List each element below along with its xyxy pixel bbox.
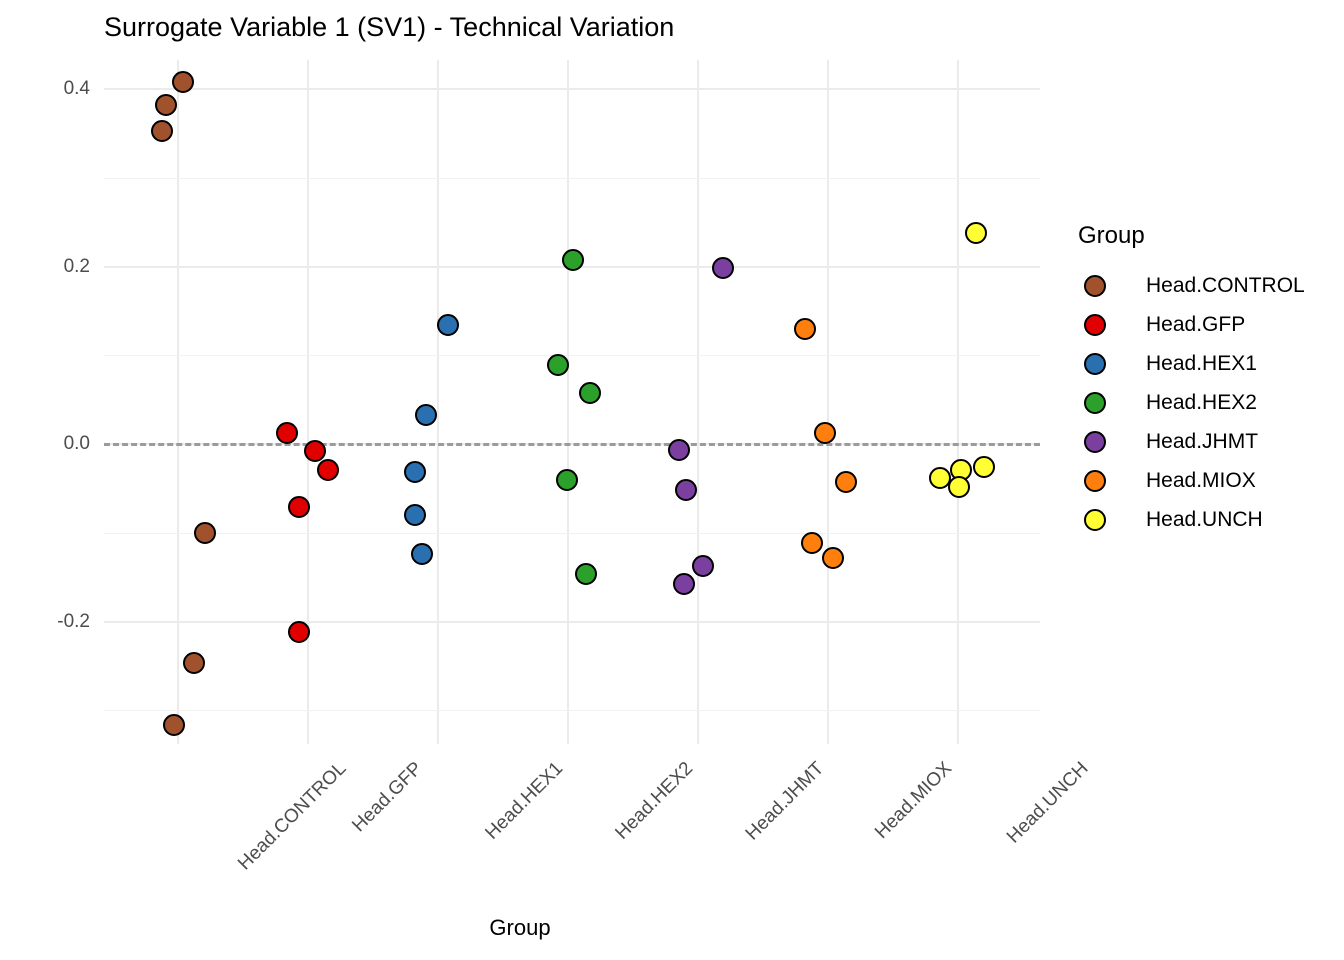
legend-item-label: Head.MIOX xyxy=(1146,469,1256,493)
x-tick-label: Head.JHMT xyxy=(742,758,829,845)
legend-item-label: Head.JHMT xyxy=(1146,430,1258,454)
data-point xyxy=(194,522,216,544)
data-point xyxy=(183,652,205,674)
legend-item[interactable]: Head.UNCH xyxy=(1078,500,1305,539)
data-point xyxy=(317,459,339,481)
data-point xyxy=(801,532,823,554)
legend-color-swatch xyxy=(1084,431,1106,453)
data-point xyxy=(288,621,310,643)
data-point xyxy=(562,249,584,271)
data-point xyxy=(155,94,177,116)
y-axis-label: SV Value xyxy=(0,300,4,390)
legend-item-label: Head.GFP xyxy=(1146,313,1245,337)
data-point xyxy=(172,71,194,93)
data-point xyxy=(163,714,185,736)
chart-root: Surrogate Variable 1 (SV1) - Technical V… xyxy=(0,0,1344,960)
legend: Group Head.CONTROLHead.GFPHead.HEX1Head.… xyxy=(1078,222,1305,539)
data-point xyxy=(835,471,857,493)
y-gridline-major xyxy=(104,621,1040,623)
data-point xyxy=(575,563,597,585)
data-point xyxy=(668,439,690,461)
y-gridline-minor xyxy=(104,355,1040,356)
x-gridline xyxy=(827,60,829,744)
x-gridline xyxy=(567,60,569,744)
plot-panel xyxy=(104,60,1040,744)
data-point xyxy=(794,318,816,340)
legend-item[interactable]: Head.CONTROL xyxy=(1078,266,1305,305)
data-point xyxy=(404,504,426,526)
zero-reference-line xyxy=(104,443,1040,446)
legend-color-swatch xyxy=(1084,470,1106,492)
x-tick-label: Head.UNCH xyxy=(1003,758,1093,848)
data-point xyxy=(547,354,569,376)
data-point xyxy=(404,461,426,483)
legend-item-label: Head.CONTROL xyxy=(1146,274,1305,298)
legend-item[interactable]: Head.JHMT xyxy=(1078,422,1305,461)
legend-color-swatch xyxy=(1084,392,1106,414)
y-tick-label: 0.4 xyxy=(10,78,90,100)
chart-title: Surrogate Variable 1 (SV1) - Technical V… xyxy=(104,12,674,43)
legend-item[interactable]: Head.GFP xyxy=(1078,305,1305,344)
data-point xyxy=(276,422,298,444)
x-tick-label: Head.CONTROL xyxy=(234,758,351,875)
x-tick-label: Head.MIOX xyxy=(871,758,957,844)
x-gridline xyxy=(307,60,309,744)
data-point xyxy=(712,257,734,279)
legend-color-swatch xyxy=(1084,353,1106,375)
data-point xyxy=(415,404,437,426)
y-gridline-minor xyxy=(104,710,1040,711)
data-point xyxy=(579,382,601,404)
legend-item[interactable]: Head.HEX2 xyxy=(1078,383,1305,422)
legend-item-label: Head.HEX1 xyxy=(1146,352,1257,376)
legend-color-swatch xyxy=(1084,509,1106,531)
legend-items: Head.CONTROLHead.GFPHead.HEX1Head.HEX2He… xyxy=(1078,266,1305,539)
legend-color-swatch xyxy=(1084,314,1106,336)
x-gridline xyxy=(177,60,179,744)
y-tick-label: 0.2 xyxy=(10,256,90,278)
y-tick-label: 0.0 xyxy=(10,433,90,455)
data-point xyxy=(692,555,714,577)
x-gridline xyxy=(697,60,699,744)
data-point xyxy=(948,476,970,498)
legend-color-swatch xyxy=(1084,275,1106,297)
data-point xyxy=(675,479,697,501)
y-gridline-minor xyxy=(104,533,1040,534)
x-tick-label: Head.GFP xyxy=(348,758,427,837)
x-tick-label: Head.HEX2 xyxy=(611,758,698,845)
data-point xyxy=(151,120,173,142)
data-point xyxy=(973,456,995,478)
data-point xyxy=(556,469,578,491)
data-point xyxy=(965,222,987,244)
data-point xyxy=(822,547,844,569)
legend-title: Group xyxy=(1078,222,1305,250)
x-gridline xyxy=(437,60,439,744)
data-point xyxy=(673,573,695,595)
y-gridline-minor xyxy=(104,178,1040,179)
y-tick-label: -0.2 xyxy=(10,611,90,633)
data-point xyxy=(411,543,433,565)
x-axis-label: Group xyxy=(0,915,1040,941)
x-tick-label: Head.HEX1 xyxy=(481,758,568,845)
y-gridline-major xyxy=(104,88,1040,90)
data-point xyxy=(437,314,459,336)
legend-item-label: Head.UNCH xyxy=(1146,508,1263,532)
legend-item[interactable]: Head.MIOX xyxy=(1078,461,1305,500)
legend-item[interactable]: Head.HEX1 xyxy=(1078,344,1305,383)
legend-item-label: Head.HEX2 xyxy=(1146,391,1257,415)
x-gridline xyxy=(957,60,959,744)
data-point xyxy=(814,422,836,444)
data-point xyxy=(288,496,310,518)
